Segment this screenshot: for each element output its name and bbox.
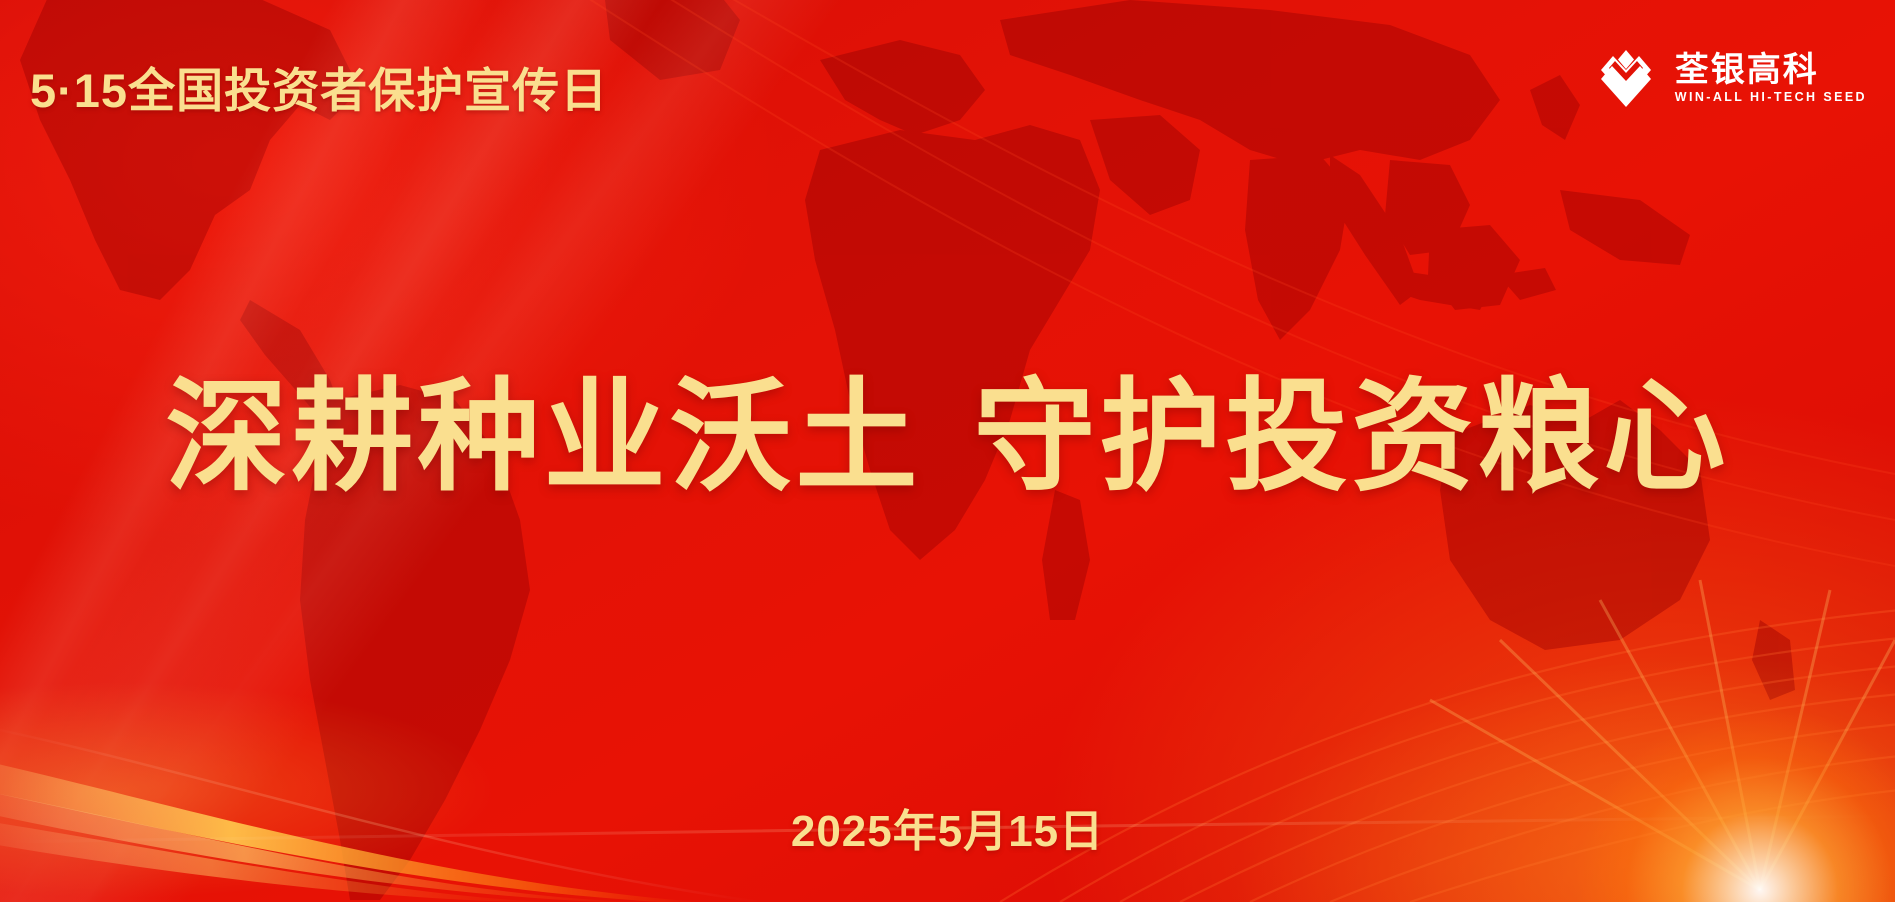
- campaign-eyebrow-title: 5·15全国投资者保护宣传日: [30, 52, 608, 121]
- logo-text-block: 荃银高科 WIN-ALL HI-TECH SEED: [1675, 53, 1867, 104]
- logo-name-en: WIN-ALL HI-TECH SEED: [1675, 91, 1867, 104]
- investor-protection-banner: 5·15全国投资者保护宣传日 深耕种业沃土守护投资粮心 2025年5月15日 荃…: [0, 0, 1895, 902]
- company-logo: 荃银高科 WIN-ALL HI-TECH SEED: [1593, 48, 1867, 108]
- headline-phrase-left: 深耕种业沃土: [166, 369, 922, 505]
- chevron-diamond-mark: [1593, 48, 1659, 108]
- page-title: 深耕种业沃土守护投资粮心: [0, 338, 1895, 515]
- event-date: 2025年5月15日: [0, 795, 1895, 859]
- logo-name-cn: 荃银高科: [1675, 53, 1867, 87]
- headline-phrase-right: 守护投资粮心: [974, 369, 1730, 505]
